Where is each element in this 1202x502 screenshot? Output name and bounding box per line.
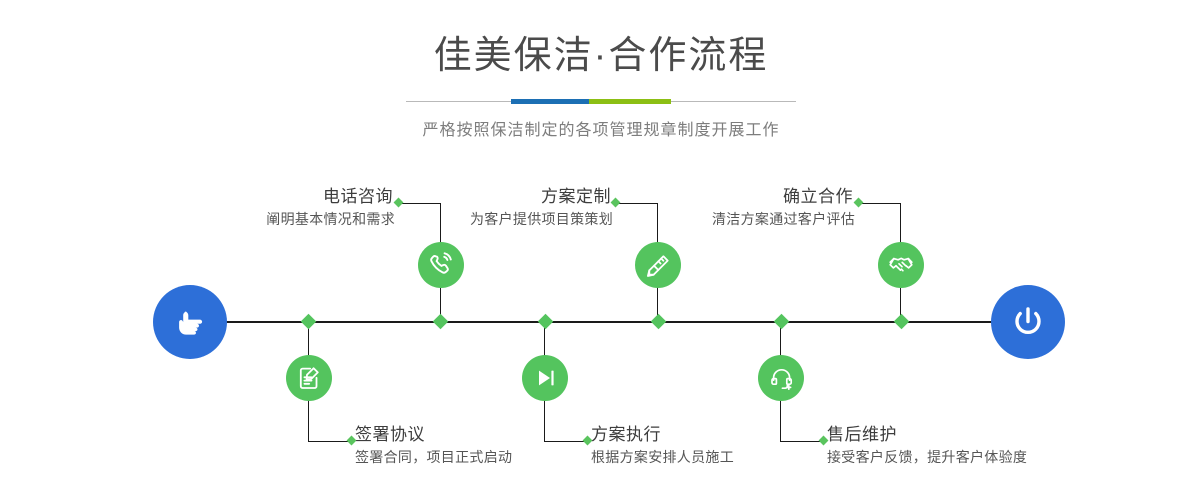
connector-step-5-horizontal (858, 203, 901, 204)
step-title-1: 电话咨询 (190, 186, 395, 209)
step-desc-2: 签署合同，项目正式启动 (355, 447, 605, 468)
step-desc-4: 根据方案安排人员施工 (591, 447, 841, 468)
axis-marker-1 (301, 314, 317, 330)
step-node-6[interactable] (758, 355, 804, 401)
timeline-axis (158, 321, 1044, 323)
flow-diagram-canvas: 佳美保洁·合作流程 严格按照保洁制定的各项管理规章制度开展工作 (0, 0, 1202, 502)
pointing-hand-icon (170, 302, 210, 342)
step-node-5[interactable] (878, 242, 924, 288)
step-desc-3: 为客户提供项目策策划 (408, 209, 613, 230)
step-node-4[interactable] (522, 355, 568, 401)
step-label-5: 确立合作 清洁方案通过客户评估 (650, 186, 855, 230)
axis-marker-5 (774, 314, 790, 330)
step-label-1: 电话咨询 阐明基本情况和需求 (190, 186, 395, 230)
axis-marker-2 (433, 314, 449, 330)
step-node-3[interactable] (635, 242, 681, 288)
step-title-4: 方案执行 (591, 424, 841, 447)
handshake-icon (887, 251, 915, 279)
headset-support-icon (768, 365, 795, 392)
divider-segment-green (589, 99, 671, 104)
power-icon (1007, 301, 1049, 343)
axis-marker-3 (538, 314, 554, 330)
phone-call-icon (427, 251, 455, 279)
step-desc-5: 清洁方案通过客户评估 (650, 209, 855, 230)
step-label-3: 方案定制 为客户提供项目策策划 (408, 186, 613, 230)
connector-dot-step-5 (854, 198, 864, 208)
title-divider (406, 99, 796, 104)
step-desc-6: 接受客户反馈，提升客户体验度 (827, 447, 1107, 468)
step-node-2[interactable] (286, 355, 332, 401)
axis-marker-6 (894, 314, 910, 330)
play-execute-icon (532, 365, 558, 391)
step-title-2: 签署协议 (355, 424, 605, 447)
connector-dot-step-1 (394, 198, 404, 208)
step-title-5: 确立合作 (650, 186, 855, 209)
connector-step-2-horizontal (308, 441, 351, 442)
step-title-3: 方案定制 (408, 186, 613, 209)
page-title: 佳美保洁·合作流程 (0, 0, 1202, 78)
divider-segment-blue (511, 99, 589, 104)
header: 佳美保洁·合作流程 严格按照保洁制定的各项管理规章制度开展工作 (0, 0, 1202, 140)
step-label-6: 售后维护 接受客户反馈，提升客户体验度 (827, 424, 1107, 468)
step-node-1[interactable] (418, 242, 464, 288)
step-label-4: 方案执行 根据方案安排人员施工 (591, 424, 841, 468)
axis-marker-4 (651, 314, 667, 330)
document-edit-icon (296, 365, 323, 392)
step-title-6: 售后维护 (827, 424, 1107, 447)
step-label-2: 签署协议 签署合同，项目正式启动 (355, 424, 605, 468)
page-subtitle: 严格按照保洁制定的各项管理规章制度开展工作 (0, 104, 1202, 140)
step-desc-1: 阐明基本情况和需求 (190, 209, 395, 230)
flow-start-node[interactable] (153, 285, 227, 359)
flow-end-node[interactable] (991, 285, 1065, 359)
pencil-ruler-icon (645, 252, 672, 279)
